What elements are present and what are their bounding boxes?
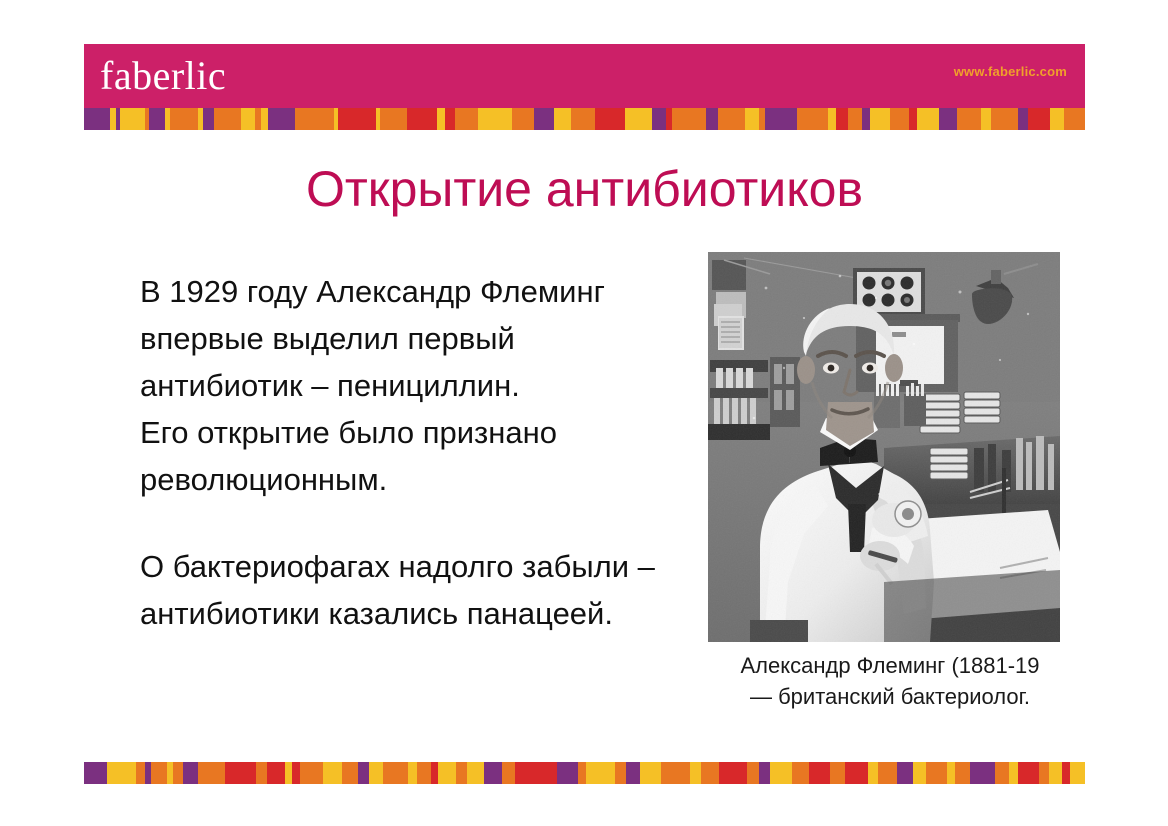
- stripe-segment: [595, 108, 625, 130]
- decorative-stripe-band-bottom: [84, 762, 1085, 784]
- stripe-segment: [292, 762, 300, 784]
- stripe-segment: [718, 108, 744, 130]
- stripe-segment: [261, 108, 268, 130]
- stripe-segment: [830, 762, 845, 784]
- stripe-segment: [84, 762, 107, 784]
- photo-caption-line-1: Александр Флеминг (1881-19: [700, 650, 1080, 681]
- stripe-segment: [848, 108, 862, 130]
- stripe-segment: [926, 762, 947, 784]
- stripe-segment: [241, 108, 255, 130]
- stripe-segment: [136, 762, 144, 784]
- stripe-segment: [719, 762, 746, 784]
- stripe-segment: [909, 108, 917, 130]
- stripe-segment: [1009, 762, 1017, 784]
- stripe-segment: [408, 762, 416, 784]
- slide: faberlic www.faberlic.com Открытие антиб…: [0, 0, 1168, 826]
- stripe-segment: [913, 762, 926, 784]
- stripe-segment: [369, 762, 384, 784]
- stripe-segment: [84, 108, 110, 130]
- stripe-segment: [183, 762, 198, 784]
- stripe-segment: [995, 762, 1010, 784]
- stripe-segment: [1028, 108, 1050, 130]
- stripe-segment: [268, 108, 295, 130]
- decorative-stripe-band-top: [84, 108, 1085, 130]
- stripe-segment: [170, 108, 198, 130]
- stripe-segment: [1049, 762, 1062, 784]
- fleming-laboratory-photo: [708, 252, 1060, 642]
- stripe-segment: [225, 762, 256, 784]
- stripe-segment: [640, 762, 661, 784]
- stripe-segment: [759, 762, 769, 784]
- website-url: www.faberlic.com: [954, 64, 1067, 79]
- stripe-segment: [845, 762, 868, 784]
- stripe-segment: [672, 108, 706, 130]
- stripe-segment: [625, 108, 651, 130]
- stripe-segment: [554, 108, 570, 130]
- stripe-segment: [878, 762, 897, 784]
- stripe-segment: [957, 108, 981, 130]
- stripe-segment: [557, 762, 578, 784]
- stripe-segment: [1070, 762, 1085, 784]
- stripe-segment: [578, 762, 586, 784]
- fleming-photo-graphic: [708, 252, 1060, 642]
- stripe-segment: [323, 762, 342, 784]
- stripe-segment: [1018, 108, 1028, 130]
- photo-caption: Александр Флеминг (1881-19 — британский …: [700, 650, 1080, 712]
- stripe-segment: [765, 108, 797, 130]
- stripe-segment: [1064, 108, 1084, 130]
- stripe-segment: [661, 762, 690, 784]
- body-paragraph: Его открытие было признано революционным…: [140, 409, 685, 503]
- stripe-segment: [1039, 762, 1049, 784]
- stripe-segment: [437, 108, 445, 130]
- stripe-segment: [917, 108, 939, 130]
- stripe-segment: [592, 762, 615, 784]
- stripe-segment: [151, 762, 168, 784]
- stripe-segment: [342, 762, 359, 784]
- stripe-segment: [797, 108, 827, 130]
- stripe-segment: [890, 108, 908, 130]
- stripe-segment: [652, 108, 666, 130]
- stripe-segment: [380, 108, 406, 130]
- stripe-segment: [107, 762, 136, 784]
- stripe-segment: [417, 762, 432, 784]
- stripe-segment: [214, 108, 240, 130]
- stripe-segment: [407, 108, 437, 130]
- stripe-segment: [970, 762, 995, 784]
- stripe-segment: [300, 762, 323, 784]
- brand-header-bar: faberlic www.faberlic.com: [84, 44, 1085, 108]
- body-paragraph: В 1929 году Александр Флеминг впервые вы…: [140, 268, 685, 409]
- stripe-segment: [338, 108, 376, 130]
- stripe-segment: [467, 762, 484, 784]
- stripe-segment: [868, 762, 878, 784]
- stripe-segment: [1062, 762, 1070, 784]
- stripe-segment: [747, 762, 760, 784]
- stripe-segment: [438, 762, 457, 784]
- stripe-segment: [792, 762, 809, 784]
- stripe-segment: [1050, 108, 1064, 130]
- stripe-segment: [939, 108, 957, 130]
- stripe-segment: [198, 762, 225, 784]
- stripe-segment: [301, 108, 333, 130]
- stripe-segment: [502, 762, 515, 784]
- photo-caption-line-2: — британский бактериолог.: [700, 681, 1080, 712]
- stripe-segment: [383, 762, 408, 784]
- stripe-segment: [484, 762, 503, 784]
- stripe-segment: [120, 108, 144, 130]
- stripe-segment: [947, 762, 955, 784]
- stripe-segment: [203, 108, 214, 130]
- stripe-segment: [456, 762, 466, 784]
- stripe-segment: [267, 762, 286, 784]
- stripe-segment: [862, 108, 870, 130]
- stripe-segment: [1018, 762, 1039, 784]
- stripe-segment: [955, 762, 970, 784]
- stripe-segment: [149, 108, 165, 130]
- body-text-block: В 1929 году Александр Флеминг впервые вы…: [140, 268, 685, 637]
- stripe-segment: [515, 762, 557, 784]
- stripe-segment: [571, 108, 595, 130]
- stripe-segment: [809, 762, 830, 784]
- stripe-segment: [690, 762, 700, 784]
- stripe-segment: [706, 108, 718, 130]
- stripe-segment: [478, 108, 512, 130]
- stripe-segment: [828, 108, 836, 130]
- stripe-segment: [256, 762, 266, 784]
- stripe-segment: [770, 762, 793, 784]
- stripe-segment: [897, 762, 914, 784]
- page-title: Открытие антибиотиков: [84, 160, 1085, 218]
- stripe-segment: [870, 108, 890, 130]
- body-paragraph: О бактериофагах надолго забыли – антибио…: [140, 543, 685, 637]
- stripe-segment: [626, 762, 641, 784]
- stripe-segment: [445, 108, 455, 130]
- stripe-segment: [836, 108, 848, 130]
- stripe-segment: [534, 108, 554, 130]
- stripe-segment: [512, 108, 534, 130]
- stripe-segment: [173, 762, 183, 784]
- stripe-segment: [745, 108, 759, 130]
- faberlic-logo: faberlic: [100, 47, 226, 105]
- stripe-segment: [991, 108, 1017, 130]
- stripe-segment: [358, 762, 368, 784]
- stripe-segment: [701, 762, 720, 784]
- stripe-segment: [455, 108, 477, 130]
- stripe-segment: [981, 108, 991, 130]
- stripe-segment: [615, 762, 625, 784]
